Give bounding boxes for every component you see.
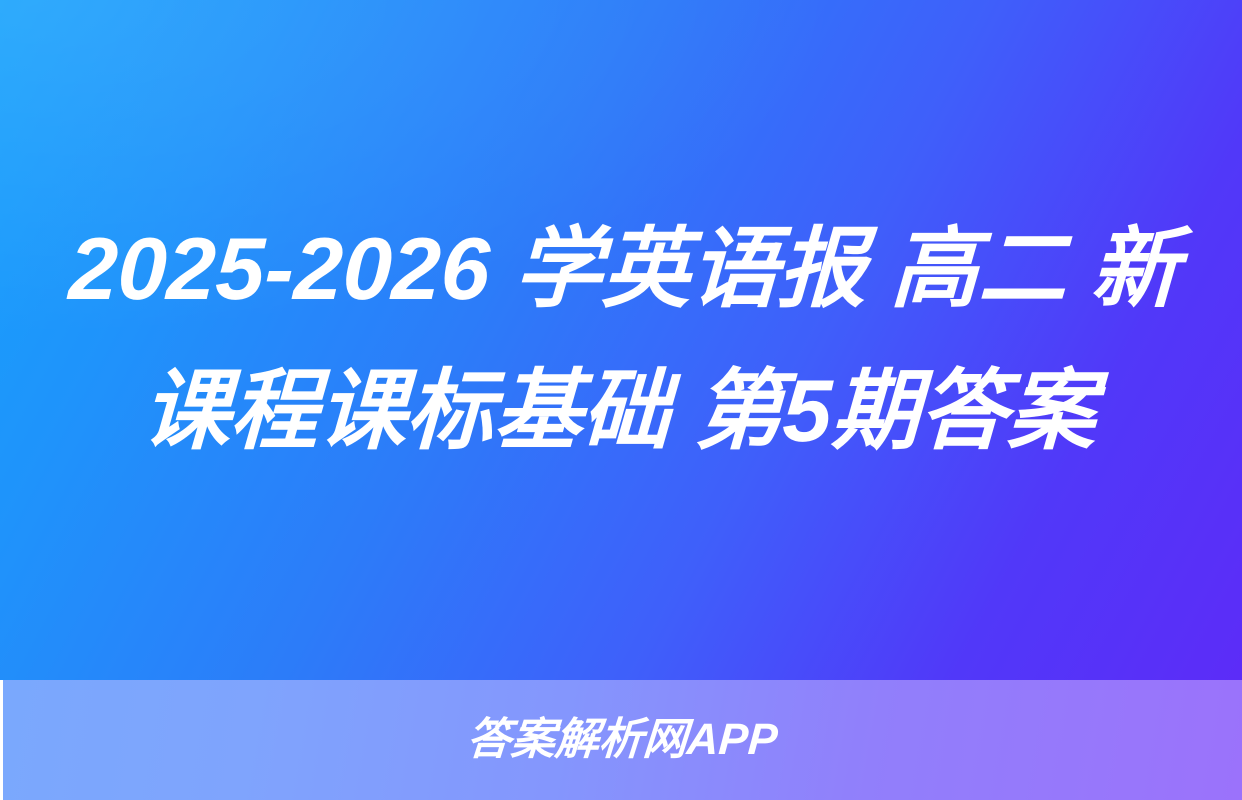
footer-watermark-band: 答案解析网APP [0, 680, 1242, 800]
app-watermark-label: 答案解析网APP [466, 718, 780, 762]
answer-cover-card: 2025-2026 学英语报 高二 新课程课标基础 第5期答案 答案解析网APP [0, 0, 1242, 800]
page-title: 2025-2026 学英语报 高二 新课程课标基础 第5期答案 [59, 198, 1184, 482]
title-container: 2025-2026 学英语报 高二 新课程课标基础 第5期答案 [0, 0, 1242, 680]
